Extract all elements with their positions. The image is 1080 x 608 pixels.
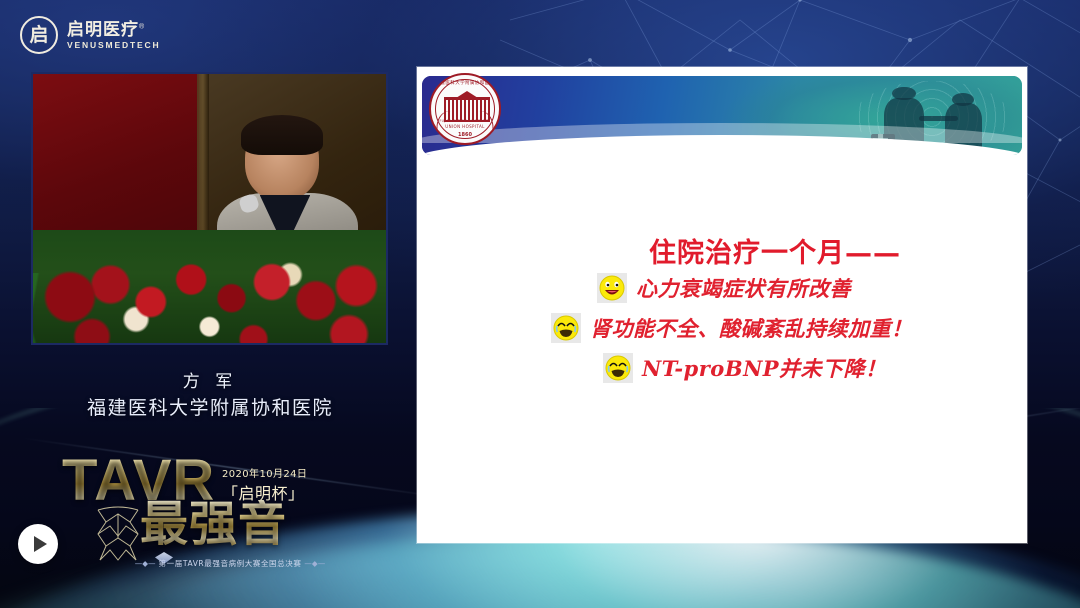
crying-face-emoji [551,313,581,343]
brand-logo: 启 启明医疗® VENUSMEDTECH [20,16,161,54]
slide-bullet-2: 肾功能不全、酸碱紊乱持续加重！ [551,313,913,343]
slide-bullet-3-text: NT-proBNP并未下降！ [642,353,887,383]
presentation-slide[interactable]: 福建医科大学附属协和医院 FUJIAN MEDICAL UNIVERSITY U… [417,67,1027,543]
brand-mark-icon: 启 [20,16,58,54]
subtitle-dash-right: —◆— [304,559,325,568]
play-button[interactable] [18,524,58,564]
slide-bullet-3: NT-proBNP并未下降！ [603,353,887,383]
slide-title: 住院治疗一个月—— [649,231,901,270]
emblem-name-cn: 福建医科大学附属协和医院 [431,80,499,86]
brand-name-en: VENUSMEDTECH [67,41,161,50]
brand-name-cn: 启明医疗® [67,21,161,38]
video-player-screen: 启 启明医疗® VENUSMEDTECH 方 军 福建医科大学附属协和医院 TA… [0,0,1080,608]
heart-valve-icon [92,502,144,566]
subtitle-dash-left: —◆— [135,559,156,568]
slide-bullet-1-text: 心力衰竭症状有所改善 [636,273,851,303]
speaker-video-thumbnail[interactable] [31,72,388,345]
slide-header-banner [422,76,1022,155]
speaker-name: 方 军 [0,367,420,392]
event-title-main: 最强音 [140,500,287,548]
brand-mark-glyph: 启 [29,26,48,45]
event-date: 2020年10月24日 [222,465,307,480]
event-key-visual: TAVR 2020年10月24日 「启明杯」 最强音 —◆— 第一届TA [62,452,352,577]
subtitle-text: 第一届TAVR最强音病例大赛全国总决赛 [159,559,302,568]
registered-mark: ® [139,23,145,30]
hospital-emblem: 福建医科大学附属协和医院 FUJIAN MEDICAL UNIVERSITY U… [429,73,501,145]
play-icon [34,536,47,552]
slide-bullet-2-text: 肾功能不全、酸碱紊乱持续加重！ [590,313,913,343]
flower-foliage [31,273,388,345]
slide-bullet-1: 心力衰竭症状有所改善 [597,273,851,303]
speaker-organization: 福建医科大学附属协和医院 [0,393,420,420]
event-subtitle: —◆— 第一届TAVR最强音病例大赛全国总决赛 —◆— [110,558,350,569]
smiling-face-emoji [597,273,627,303]
crying-face-emoji [603,353,633,383]
brand-name-cn-text: 启明医疗 [67,20,139,39]
